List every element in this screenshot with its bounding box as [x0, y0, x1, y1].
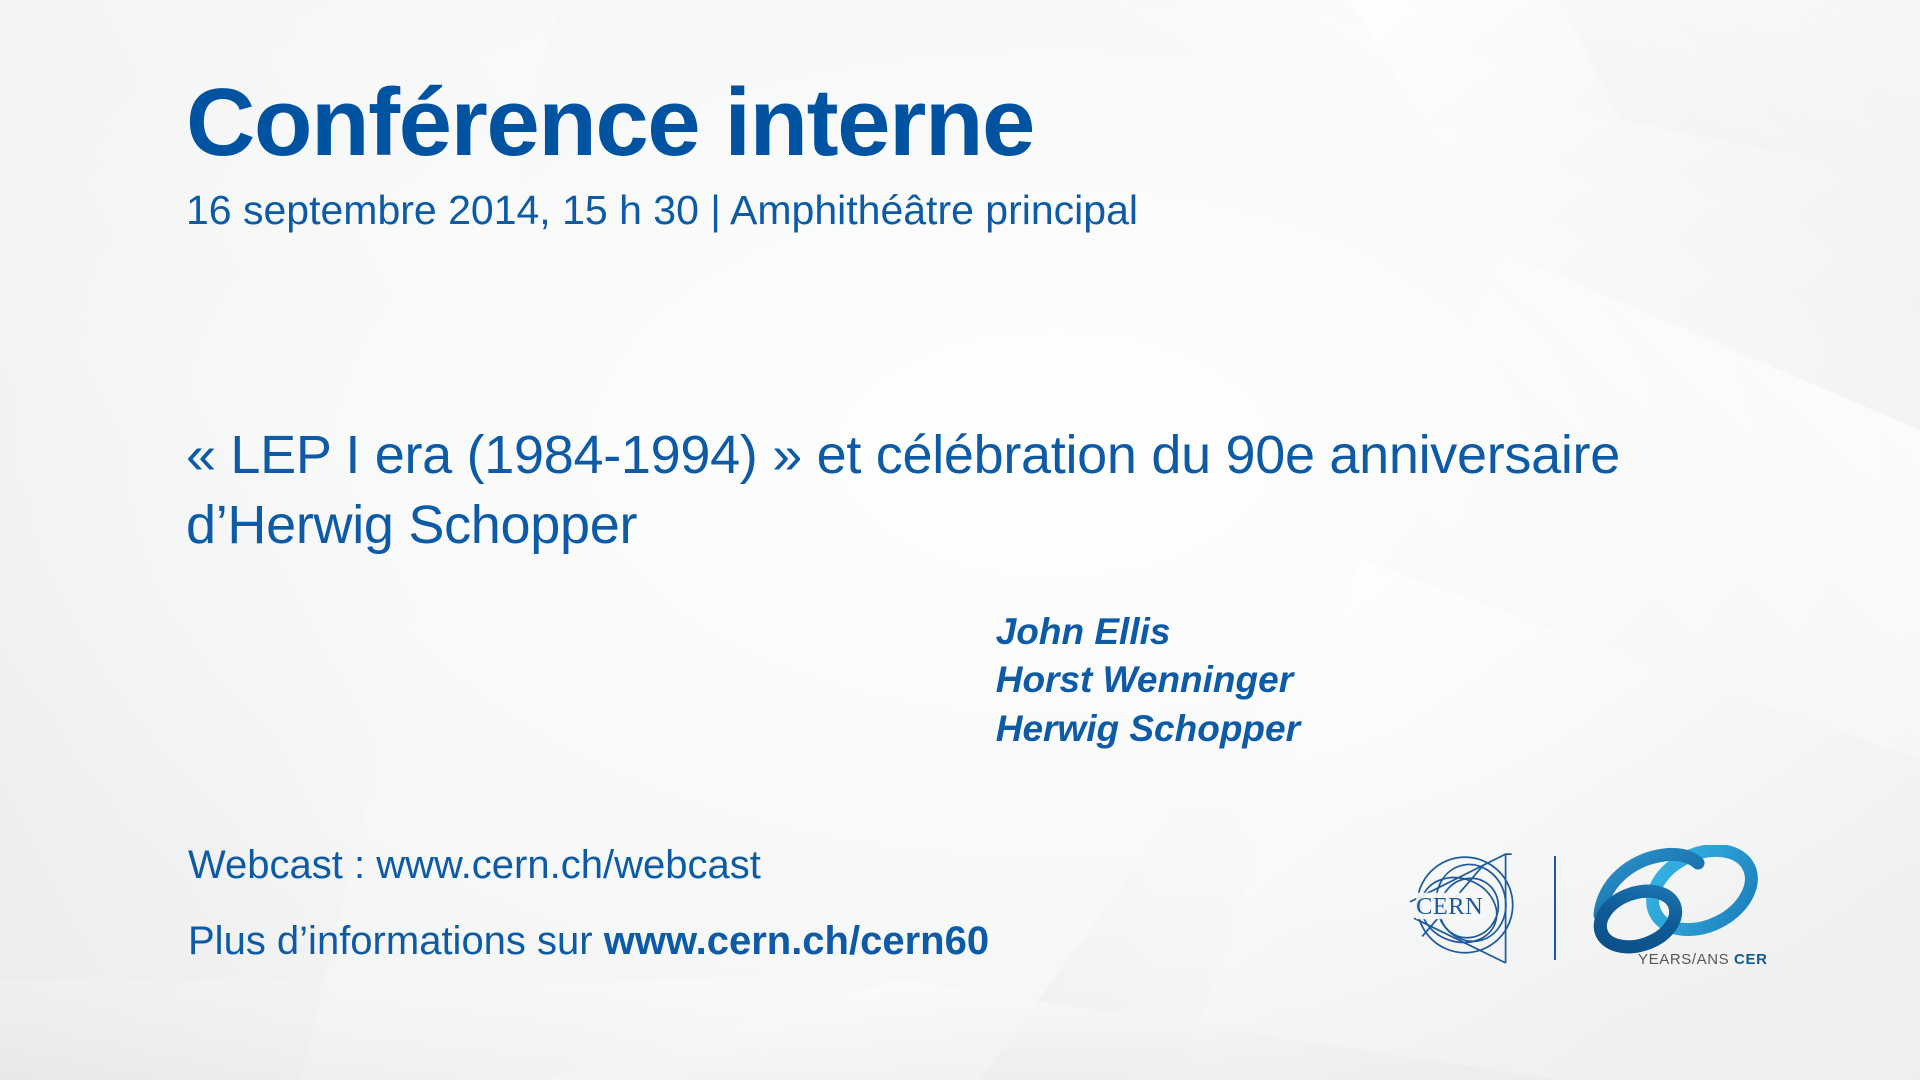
logo-block: CERN: [1408, 845, 1768, 971]
cern-logo[interactable]: CERN: [1408, 847, 1530, 969]
more-info-label: Plus d’informations sur: [188, 919, 604, 963]
anniversary-tagline: YEARS/ANS CERN: [1638, 951, 1768, 968]
webcast-link[interactable]: www.cern.ch/webcast: [376, 843, 761, 887]
anniversary-tagline-plain: YEARS/ANS: [1638, 951, 1734, 968]
webcast-line: Webcast : www.cern.ch/webcast: [188, 845, 989, 885]
info-block: Webcast : www.cern.ch/webcast Plus d’inf…: [188, 845, 989, 961]
speaker-name: John Ellis: [996, 608, 1300, 656]
speakers-list: John Ellis Horst Wenninger Herwig Schopp…: [996, 608, 1300, 753]
anniversary-tagline-bold: CERN: [1734, 951, 1768, 968]
cern60-anniversary-logo[interactable]: YEARS/ANS CERN: [1582, 845, 1768, 971]
poster-canvas: Conférence interne 16 septembre 2014, 15…: [0, 0, 1920, 1080]
webcast-label: Webcast :: [188, 843, 376, 887]
talk-block: « LEP I era (1984-1994) » et célébration…: [186, 420, 1696, 560]
talk-title: « LEP I era (1984-1994) » et célébration…: [186, 420, 1696, 560]
speaker-name: Herwig Schopper: [996, 705, 1300, 753]
event-datetime-venue: 16 septembre 2014, 15 h 30 | Amphithéâtr…: [186, 188, 1138, 234]
speaker-name: Horst Wenninger: [996, 656, 1300, 704]
page-title: Conférence interne: [186, 74, 1138, 172]
cern-wordmark: CERN: [1416, 893, 1483, 920]
more-info-line: Plus d’informations sur www.cern.ch/cern…: [188, 921, 989, 961]
logo-divider: [1554, 856, 1556, 960]
heading-block: Conférence interne 16 septembre 2014, 15…: [186, 74, 1138, 234]
cern60-link[interactable]: www.cern.ch/cern60: [604, 919, 989, 963]
